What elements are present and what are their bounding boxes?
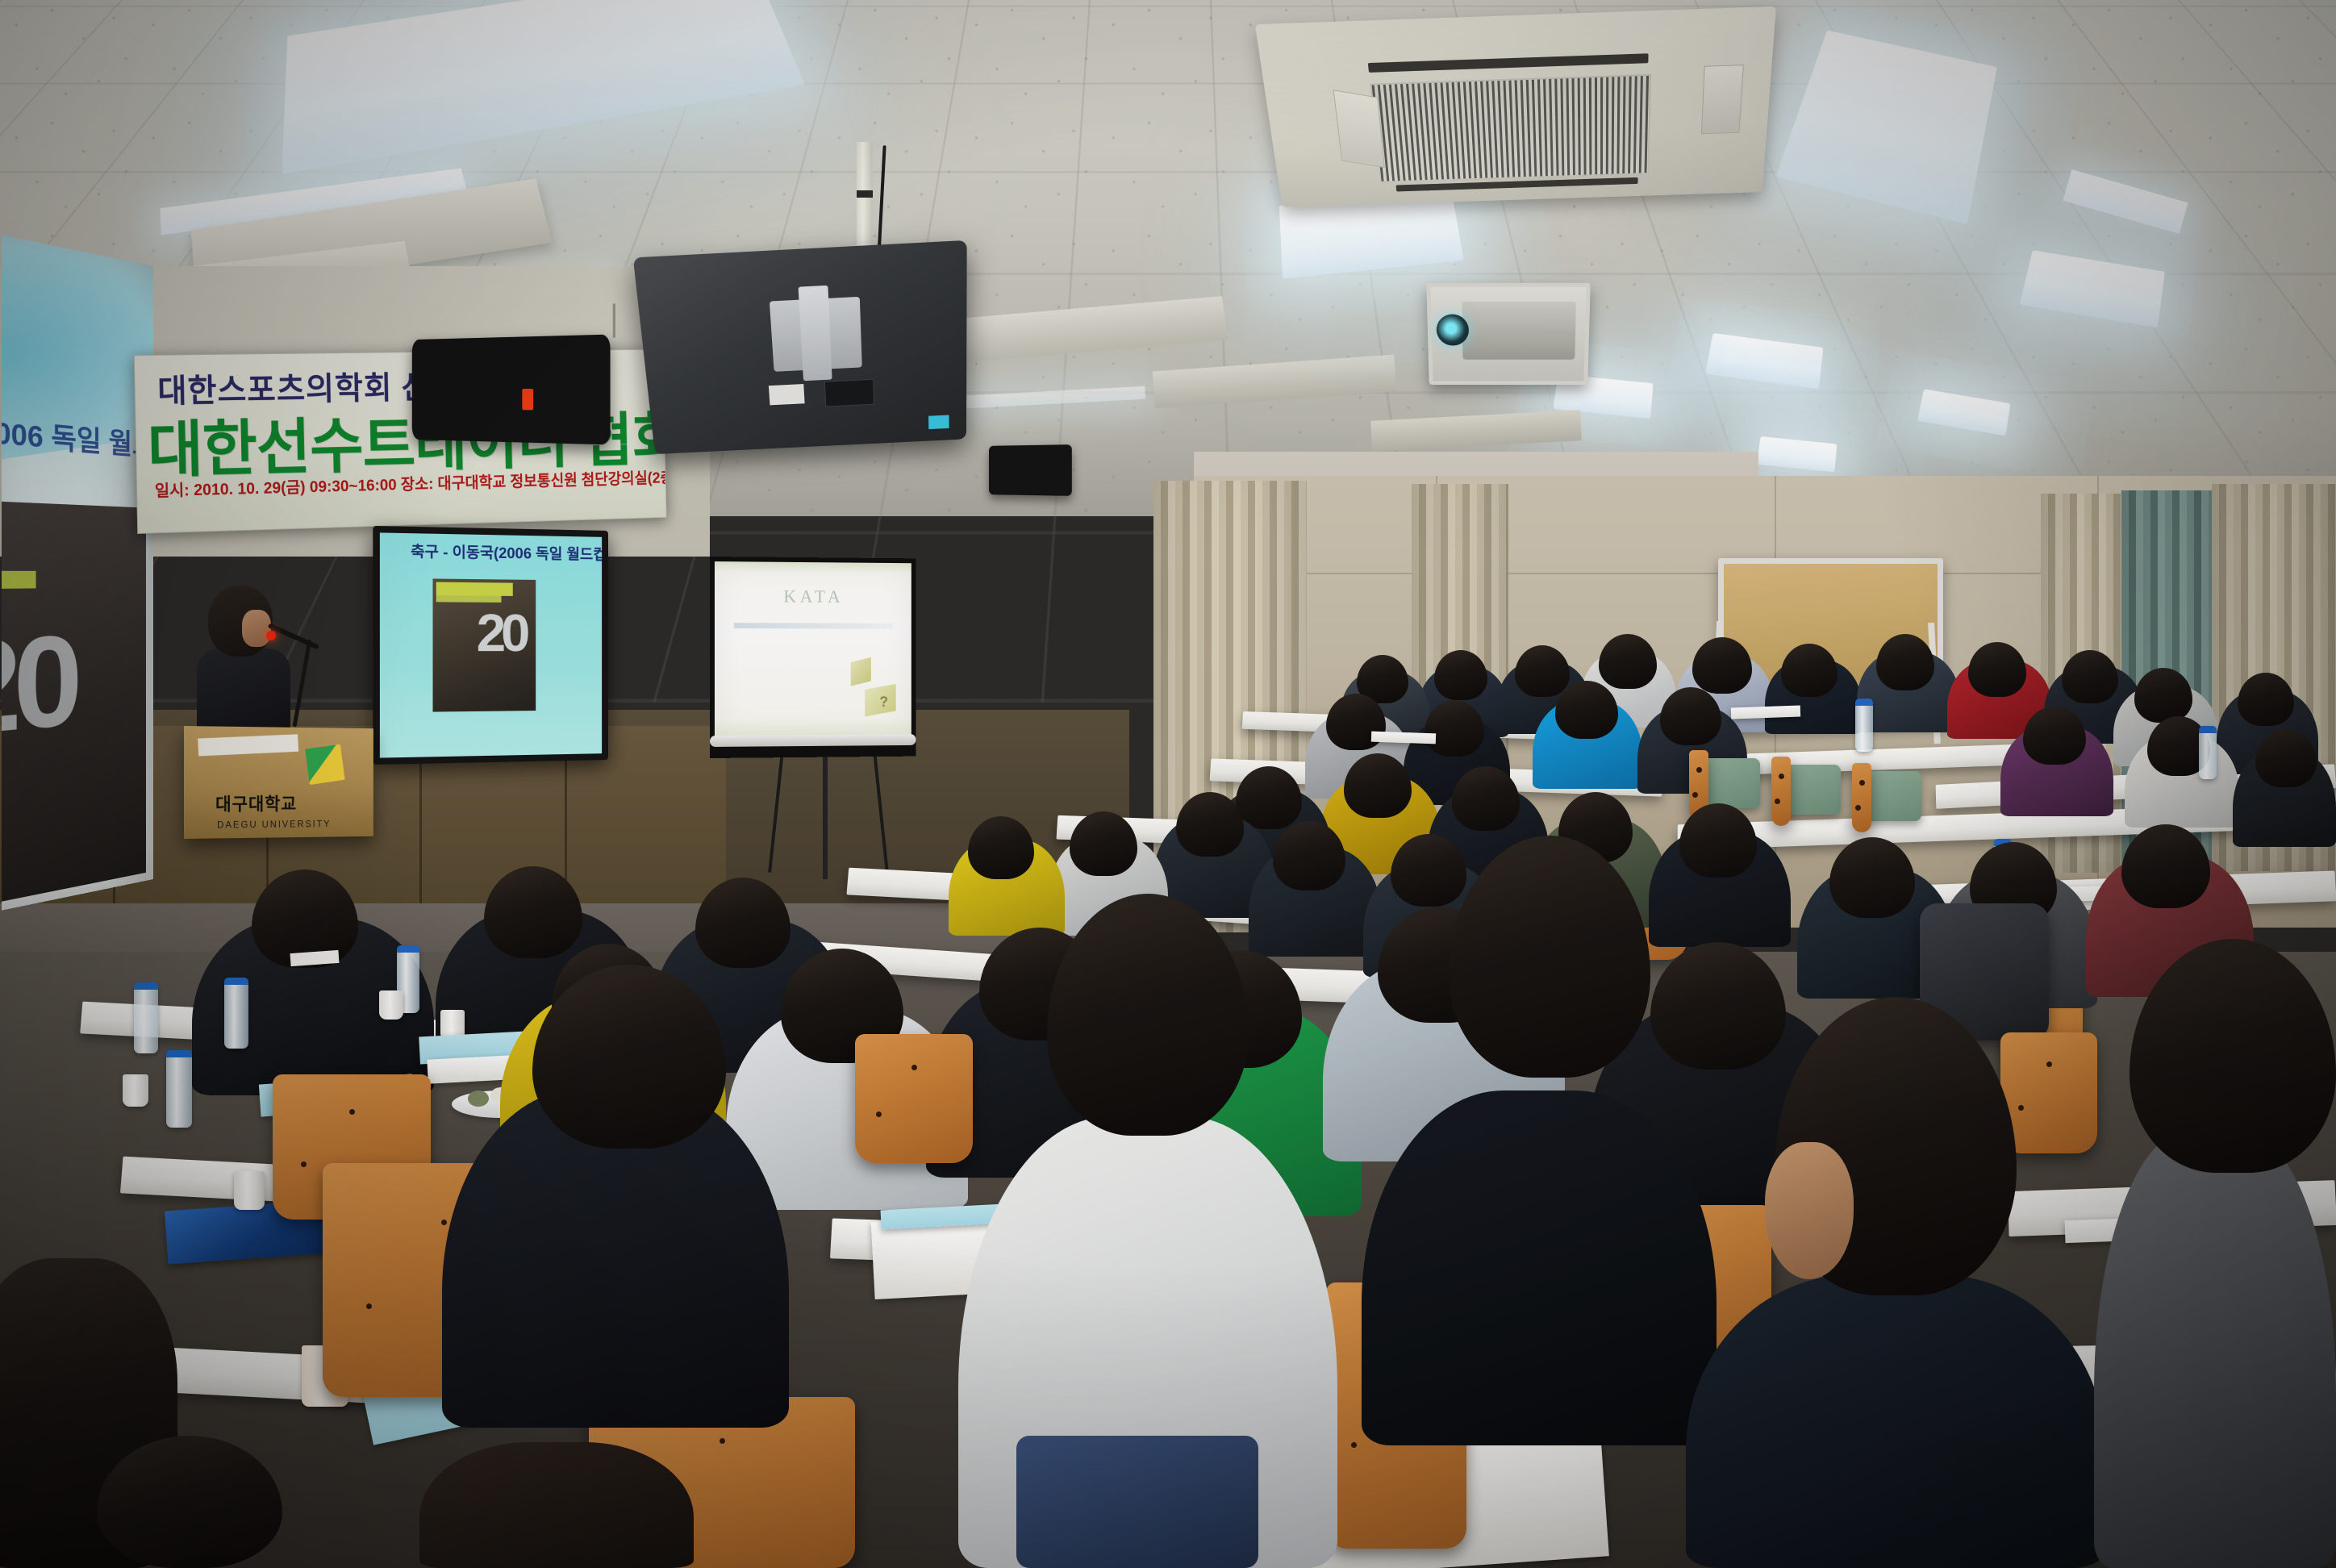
microphone-led-icon xyxy=(266,631,276,640)
tv-sticker xyxy=(928,415,949,429)
ceiling-mounted-tv xyxy=(633,240,967,454)
speaker-chain xyxy=(613,303,615,337)
wall-speaker xyxy=(989,444,1072,496)
chair xyxy=(2000,1032,2097,1153)
wall-projection-left: 006 독일 월드컵 20 xyxy=(2,235,153,911)
ceiling-air-conditioner xyxy=(1255,6,1776,207)
slide-jersey-number: 20 xyxy=(2,607,75,768)
audience-person-foreground xyxy=(419,1442,694,1568)
jeans xyxy=(1016,1436,1258,1568)
screen-subtitle-line xyxy=(734,623,893,629)
projector-body xyxy=(1462,302,1576,360)
audience-person-foreground xyxy=(1362,1091,1717,1445)
ceiling-projector xyxy=(1426,283,1591,385)
chair xyxy=(1771,757,1791,826)
presenter-face xyxy=(242,610,271,647)
screen-logo-mark: ? xyxy=(879,694,888,711)
tv-spec-label xyxy=(769,384,805,405)
audience-person-foreground xyxy=(2094,1129,2336,1568)
screen-bottom-roller xyxy=(710,734,916,747)
tv-port-panel-icon xyxy=(824,379,874,407)
paper-cup xyxy=(379,990,403,1020)
rice-cake xyxy=(468,1091,489,1107)
hvac-grille xyxy=(1370,74,1651,183)
lecture-hall-photo: 006 독일 월드컵 20 대한스포츠의학회 산하 대한선수트레이너 협회 추계… xyxy=(0,0,2336,1568)
podium-papers xyxy=(198,734,298,756)
slide-photo-caption-bar xyxy=(436,582,513,596)
audience-face xyxy=(1765,1142,1854,1279)
hvac-vane-icon xyxy=(1701,65,1744,134)
university-emblem-icon xyxy=(305,744,345,785)
paper-cup xyxy=(123,1074,148,1107)
slide-jersey-number: 20 xyxy=(477,603,526,664)
audience-head xyxy=(1434,650,1487,700)
podium-university-name-kr: 대구대학교 xyxy=(215,790,297,816)
podium-university-name-en: DAEGU UNIVERSITY xyxy=(217,818,331,830)
water-bottle xyxy=(2199,726,2217,779)
screen-cloth: KATA ? xyxy=(715,561,911,737)
chair xyxy=(855,1034,973,1163)
screen-tripod-pole xyxy=(823,750,828,879)
speaker-led-icon xyxy=(522,389,533,410)
wall-speaker xyxy=(412,335,611,445)
slide-photo: 20 xyxy=(433,578,536,711)
paper-cup xyxy=(234,1171,265,1210)
projector-lens-icon xyxy=(1436,315,1469,346)
slide-title-stage: 축구 - 이동국(2006 독일 월드컵) xyxy=(411,540,608,565)
slide-photo-caption-bar xyxy=(436,595,502,603)
chair xyxy=(1852,763,1871,832)
stage-display-screen: 축구 - 이동국(2006 독일 월드컵) 20 xyxy=(373,526,608,765)
hvac-slot xyxy=(1368,53,1649,73)
handout-papers xyxy=(1731,706,1800,719)
presenter-body xyxy=(197,648,290,737)
slide-photo-caption-bar xyxy=(2,571,36,590)
hvac-vane-icon xyxy=(1333,90,1385,168)
tv-bracket-arm xyxy=(799,286,832,381)
tv-mount-ring xyxy=(857,190,873,198)
water-bottle xyxy=(1855,699,1873,752)
audience-person-foreground xyxy=(1686,1274,2105,1568)
screen-org-acronym: KATA xyxy=(783,586,844,607)
water-bottle xyxy=(134,982,158,1053)
projection-screen: KATA ? xyxy=(710,557,916,758)
water-bottle xyxy=(224,978,248,1049)
presenter xyxy=(197,586,290,731)
screen-logo-shape xyxy=(851,657,871,686)
slide-photo: 20 xyxy=(2,498,146,910)
handout-papers xyxy=(1371,732,1436,744)
chair-back xyxy=(1700,758,1760,808)
water-bottle xyxy=(166,1050,192,1128)
lectern-podium: 대구대학교 DAEGU UNIVERSITY xyxy=(184,726,373,839)
